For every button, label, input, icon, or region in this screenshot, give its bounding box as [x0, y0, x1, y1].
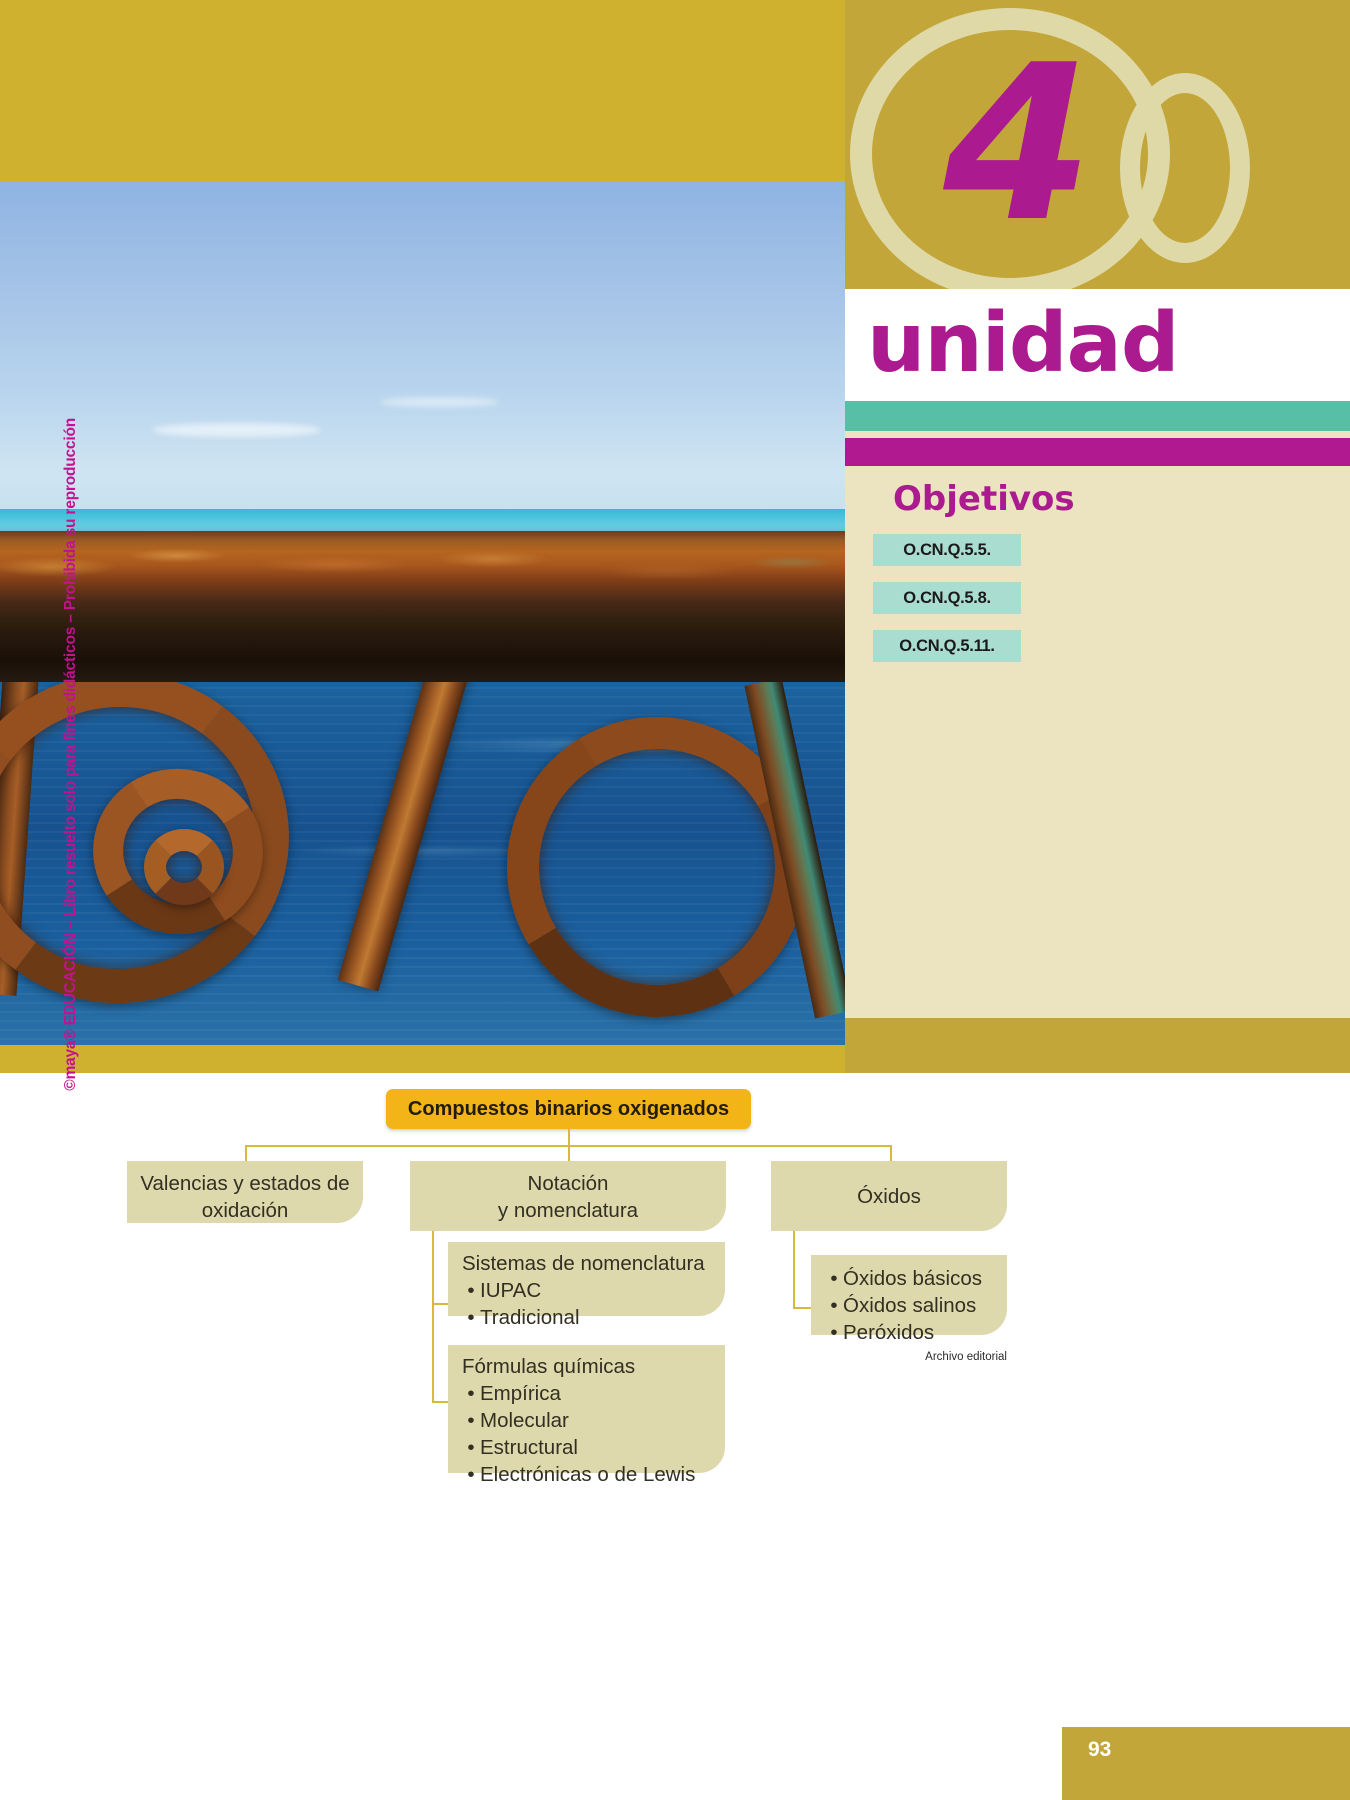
- top-gold-band: [0, 0, 845, 181]
- bullet-label: Óxidos salinos: [843, 1292, 976, 1319]
- bullet-label: Estructural: [480, 1434, 578, 1461]
- connector-oxidos-trunk: [793, 1231, 795, 1309]
- bullet-item: • Tradicional: [462, 1304, 725, 1331]
- concept-map-node-formulas-quimicas: Fórmulas químicas • Empírica • Molecular…: [448, 1345, 725, 1473]
- copyright-notice: ©maya® EDUCACIÓN – Libro resuelto solo p…: [62, 418, 80, 1091]
- bullet-dot-icon: •: [462, 1380, 480, 1407]
- bullet-label: Tradicional: [480, 1304, 580, 1331]
- bullet-dot-icon: •: [825, 1265, 843, 1292]
- bullet-item: • Electrónicas o de Lewis: [462, 1461, 725, 1488]
- node-label-line2: y nomenclatura: [498, 1199, 638, 1222]
- magenta-divider-bar: [845, 438, 1350, 466]
- bullet-dot-icon: •: [462, 1434, 480, 1461]
- connector-notacion-trunk: [432, 1231, 434, 1401]
- concept-map-root-node: Compuestos binarios oxigenados: [386, 1089, 751, 1129]
- bullet-label: Peróxidos: [843, 1319, 934, 1346]
- connector-branch-right: [890, 1145, 892, 1161]
- connector-branch-left: [245, 1145, 247, 1161]
- bullet-label: Empírica: [480, 1380, 561, 1407]
- bullet-dot-icon: •: [462, 1461, 480, 1488]
- bullet-dot-icon: •: [462, 1277, 480, 1304]
- panel-bottom-gold-strip: [845, 1018, 1350, 1073]
- node-heading: Fórmulas químicas: [462, 1353, 725, 1380]
- bullet-dot-icon: •: [825, 1319, 843, 1346]
- node-label: Óxidos: [857, 1185, 921, 1208]
- bullet-item: • Empírica: [462, 1380, 725, 1407]
- photo-rail-horizontal: [0, 531, 845, 643]
- bullet-item: • IUPAC: [462, 1277, 725, 1304]
- bullet-item: • Óxidos salinos: [825, 1292, 1007, 1319]
- photo-rail-shadow: [0, 630, 845, 682]
- concept-map-node-oxidos-list: • Óxidos básicos • Óxidos salinos • Peró…: [811, 1255, 1007, 1335]
- objective-badge: O.CN.Q.5.8.: [873, 582, 1021, 614]
- objective-badge: O.CN.Q.5.5.: [873, 534, 1021, 566]
- bullet-label: Óxidos básicos: [843, 1265, 982, 1292]
- circle-ring-small-icon: [1120, 73, 1250, 263]
- bullet-item: • Peróxidos: [825, 1319, 1007, 1346]
- node-label-line1: Notación: [528, 1172, 609, 1195]
- teal-divider-bar: [845, 401, 1350, 431]
- photo-cloud: [152, 423, 321, 437]
- diagram-credit: Archivo editorial: [811, 1351, 1007, 1363]
- connector-oxidos-to-list: [793, 1307, 813, 1309]
- bullet-dot-icon: •: [462, 1304, 480, 1331]
- cover-photo-rusty-railing-sea: [0, 181, 845, 1045]
- concept-map-node-sistemas-nomenclatura: Sistemas de nomenclatura • IUPAC • Tradi…: [448, 1242, 725, 1316]
- unit-number: 4: [900, 36, 1130, 251]
- bullet-item: • Óxidos básicos: [825, 1265, 1007, 1292]
- bullet-dot-icon: •: [825, 1292, 843, 1319]
- objective-badge: O.CN.Q.5.11.: [873, 630, 1021, 662]
- bullet-label: Electrónicas o de Lewis: [480, 1461, 695, 1488]
- objectives-title: Objetivos: [893, 478, 1075, 520]
- unit-word-label: unidad: [867, 296, 1179, 392]
- bullet-item: • Estructural: [462, 1434, 725, 1461]
- page-number-box: 93: [1062, 1727, 1350, 1800]
- concept-map-node-notacion: Notación y nomenclatura: [410, 1161, 726, 1231]
- photo-rail-scroll-left-core: [144, 829, 224, 905]
- bullet-dot-icon: •: [462, 1407, 480, 1434]
- connector-branch-bus: [245, 1145, 892, 1147]
- bullet-label: Molecular: [480, 1407, 569, 1434]
- concept-map-node-valencias: Valencias y estados de oxidación: [127, 1161, 363, 1223]
- bullet-item: • Molecular: [462, 1407, 725, 1434]
- concept-map-node-oxidos: Óxidos: [771, 1161, 1007, 1231]
- cream-divider-gap: [845, 431, 1350, 438]
- page-number: 93: [1088, 1738, 1111, 1762]
- photo-sky: [0, 181, 845, 544]
- bullet-label: IUPAC: [480, 1277, 541, 1304]
- concept-map: Compuestos binarios oxigenados Valencias…: [0, 1073, 1350, 1633]
- node-label: Valencias y estados de oxidación: [140, 1172, 349, 1222]
- node-heading: Sistemas de nomenclatura: [462, 1250, 725, 1277]
